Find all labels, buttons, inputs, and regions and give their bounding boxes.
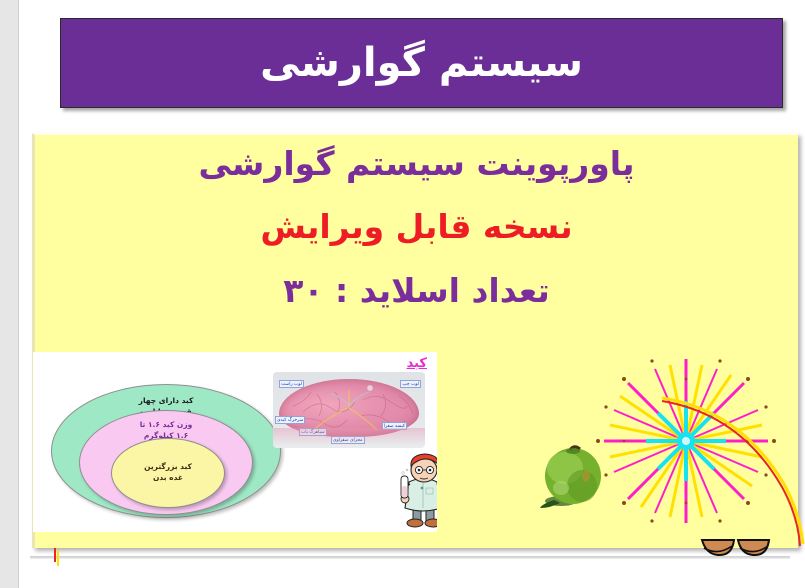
liver-image-reflection xyxy=(273,428,425,446)
subheadline-text: نسخه قابل ویرایش xyxy=(35,206,798,247)
panel-text-block: پاورپوینت سیستم گوارشی نسخه قابل ویرایش … xyxy=(35,143,798,311)
left-gutter-strip xyxy=(0,0,18,588)
left-gutter-edge xyxy=(18,0,19,588)
anatomy-label-left-lobe: لوب چپ xyxy=(400,380,421,388)
anatomy-label-right-lobe: لوب راست xyxy=(279,380,304,388)
anatomy-label-hepatic-artery: سرخرگ کبدی xyxy=(275,416,305,424)
oval-inner-label: کبد بزرگترین غده بدن xyxy=(138,462,198,484)
firework-trail-icon xyxy=(660,392,805,552)
title-banner: سیستم گوارشی xyxy=(60,18,783,108)
cartoon-scientist-icon xyxy=(385,448,437,528)
slide-count-text: تعداد اسلاید : ۳۰ xyxy=(35,270,798,311)
bottom-tick-marker xyxy=(54,548,61,566)
preview-title-liver: کبد xyxy=(407,356,427,371)
oval-inner-yellow: کبد بزرگترین غده بدن xyxy=(111,438,225,508)
headline-text: پاورپوینت سیستم گوارشی xyxy=(35,143,798,184)
bottom-divider xyxy=(30,556,790,559)
slide-canvas: سیستم گوارشی پاورپوینت سیستم گوارشی نسخه… xyxy=(0,0,805,588)
slide-preview-thumbnail[interactable]: کبد کبد دارای چهار قسمت یا لوب وزن کبد ۱… xyxy=(33,352,437,532)
banner-title-text: سیستم گوارشی xyxy=(260,43,583,83)
green-apple-icon xyxy=(540,440,606,512)
